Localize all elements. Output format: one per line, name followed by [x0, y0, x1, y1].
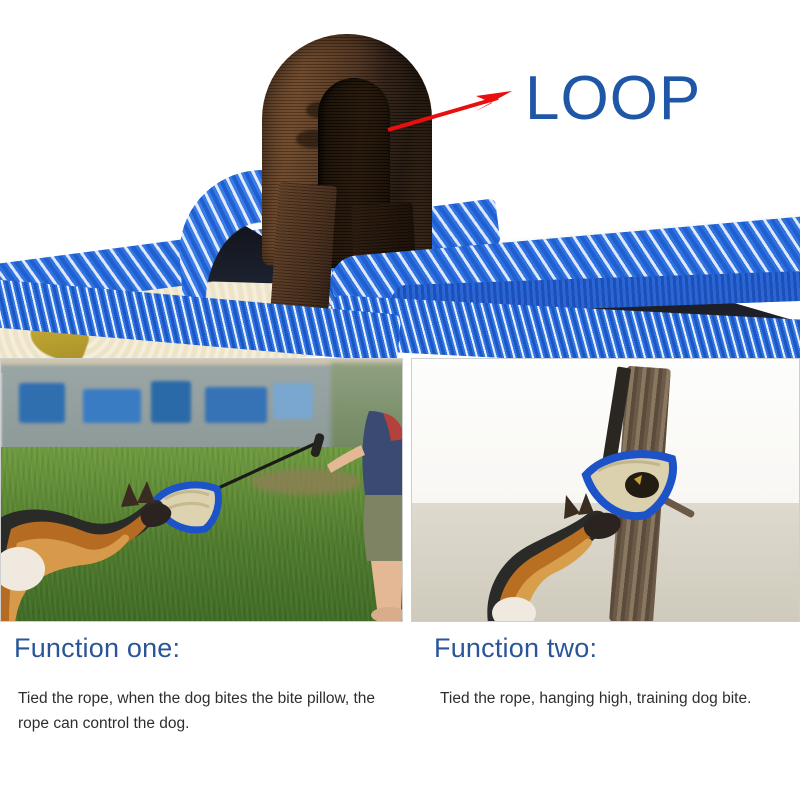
graffiti-mark [151, 381, 191, 423]
product-infographic: LOOP [0, 0, 800, 800]
caption-column-two: Function two: Tied the rope, hanging hig… [434, 622, 790, 711]
caption-title-one: Function one: [14, 632, 410, 664]
graffiti-mark [19, 383, 65, 423]
german-shepherd-dog [474, 485, 660, 622]
german-shepherd-dog [0, 477, 185, 622]
graffiti-mark [205, 387, 267, 423]
hero-product-closeup: LOOP [0, 0, 800, 358]
photo-function-two [411, 358, 800, 622]
graffiti-mark [83, 389, 141, 423]
caption-area: Function one: Tied the rope, when the do… [0, 622, 800, 800]
caption-title-two: Function two: [434, 632, 790, 664]
arrow-right-icon [380, 78, 530, 148]
caption-body-two: Tied the rope, hanging high, training do… [440, 686, 790, 711]
handler-person [327, 411, 403, 622]
photo-row [0, 358, 800, 622]
loop-annotation-label: LOOP [525, 68, 701, 130]
caption-column-one: Function one: Tied the rope, when the do… [14, 622, 410, 736]
graffiti-mark [273, 383, 313, 419]
caption-body-one: Tied the rope, when the dog bites the bi… [18, 686, 410, 736]
photo-function-one [0, 358, 403, 622]
brown-loop-handle [262, 34, 432, 284]
